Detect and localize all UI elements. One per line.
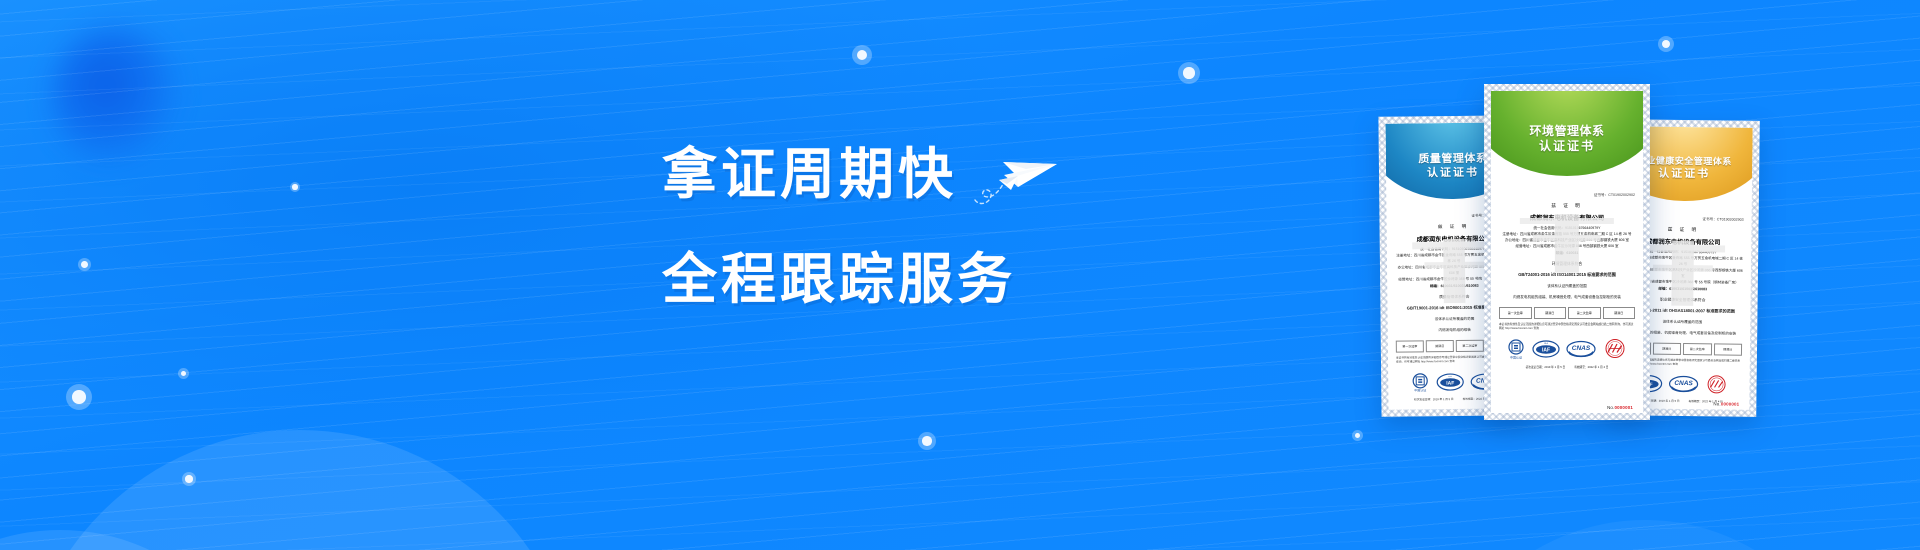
- audit-table: 第一次监审 期满日 第二次监审 期满日: [1499, 307, 1635, 319]
- svg-text:MLA: MLA: [1544, 342, 1548, 345]
- bubble-dot-icon: [66, 384, 92, 410]
- bubble-dot-icon: [78, 258, 91, 271]
- certificate-header: HXC BEIJING HXC BEIJING HXC BEIJING HXC …: [1491, 91, 1643, 188]
- certificate-number-value: CT01902002903: [1717, 217, 1744, 221]
- serial-prefix: No.: [1607, 405, 1614, 410]
- body-watermark: [1640, 241, 1725, 307]
- certificate-title-line1: 环境管理体系: [1491, 124, 1643, 139]
- certificate-number-value: CT01902002902: [1608, 193, 1635, 197]
- certificate-number-label: 证书号：: [1594, 193, 1608, 197]
- headline-line-1: 拿证周期快: [662, 145, 957, 204]
- svg-text:CNAS: CNAS: [1572, 345, 1591, 352]
- certificate-title-line2: 认证证书: [1491, 139, 1643, 154]
- bubble-dot-icon: [1658, 36, 1674, 52]
- table-cell: 期满日: [1534, 307, 1567, 319]
- certificate-serial: No.0000001: [1607, 405, 1633, 410]
- certificate-card-environment[interactable]: HXC BEIJING HXC BEIJING HXC BEIJING HXC …: [1484, 84, 1650, 420]
- body-watermark: [1520, 214, 1614, 272]
- serial-prefix: No.: [1713, 401, 1720, 406]
- tongren-mark-icon: 中国认证: [1506, 338, 1526, 360]
- serial-value: 0000001: [1721, 401, 1740, 406]
- table-cell: 第一次监审: [1499, 307, 1532, 319]
- headline-row-primary: 拿证周期快: [662, 142, 1132, 208]
- bubble-dot-icon: [1178, 62, 1200, 84]
- promo-banner: 拿证周期快 全程跟踪服务: [0, 0, 1920, 550]
- expiry-date: 有效期至：2022 年 1 月 4 日: [1574, 365, 1608, 369]
- scope-detail: 内燃发电机组的组装、机房噪音处理、电气成套设备及控制柜的安装: [1499, 295, 1635, 300]
- bubble-dot-icon: [182, 472, 196, 486]
- table-cell: 期满日: [1603, 307, 1636, 319]
- table-cell: 期满日: [1426, 340, 1454, 352]
- certificate-footer: 初次发证日期：2019 年 1 月 5 日 有效期至：2022 年 1 月 4 …: [1491, 365, 1643, 369]
- table-cell: 第一次监审: [1396, 340, 1424, 352]
- bubble-dot-icon: [852, 45, 872, 65]
- svg-text:IAF: IAF: [1446, 380, 1454, 386]
- paper-plane-icon: [973, 142, 1061, 208]
- svg-text:MLA: MLA: [1448, 375, 1452, 378]
- tongren-mark-icon: 中国认证: [1410, 372, 1430, 392]
- svg-text:CNAS: CNAS: [1674, 380, 1693, 387]
- red-seal-icon: [1704, 375, 1728, 395]
- cnas-logo-icon: CNAS: [1566, 340, 1596, 358]
- headline-block: 拿证周期快 全程跟踪服务: [662, 142, 1132, 309]
- issue-date: 初次发证日期：2019 年 1 月 5 日: [1414, 397, 1454, 401]
- svg-text:IAF: IAF: [1542, 348, 1550, 354]
- svg-text:中国认证: 中国认证: [1510, 355, 1522, 360]
- iaf-logo-icon: IAF MLA: [1436, 372, 1464, 390]
- serial-value: 0000001: [1615, 405, 1634, 410]
- certificate-title: 环境管理体系 认证证书: [1491, 124, 1643, 155]
- svg-text:中国认证: 中国认证: [1414, 387, 1426, 392]
- certificate-serial: No.0000001: [1713, 401, 1739, 406]
- table-cell: 期满日: [1652, 342, 1681, 354]
- certify-label: 兹 证 明: [1499, 203, 1635, 209]
- bubble-dot-icon: [178, 368, 189, 379]
- certificate-stack: HXC BEIJING HXC BEIJING HXC BEIJING HXC …: [1380, 76, 1800, 456]
- headline-line-2: 全程跟踪服务: [662, 250, 1132, 309]
- bubble-dot-icon: [1352, 430, 1363, 441]
- table-cell: 第二次监审: [1683, 343, 1712, 355]
- table-cell: 第二次监审: [1568, 307, 1601, 319]
- cnas-logo-icon: CNAS: [1668, 375, 1698, 393]
- red-seal-icon: [1602, 338, 1628, 360]
- accreditation-logos: 中国认证 IAF MLA CNAS: [1491, 338, 1643, 360]
- fine-print: 本证书的有效性及认证范围的详细信息可通过登录中国合格评定国家认可委员会网站或扫描…: [1499, 323, 1635, 332]
- issue-date: 初次发证日期：2019 年 1 月 5 日: [1526, 365, 1566, 369]
- table-cell: 期满日: [1713, 343, 1742, 355]
- bubble-dot-icon: [918, 432, 936, 450]
- bubble-dot-icon: [290, 182, 300, 192]
- iaf-logo-icon: IAF MLA: [1532, 340, 1560, 358]
- scope-label: 该体系认证所覆盖的范围: [1499, 284, 1635, 289]
- certificate-number-label: 证书号：: [1702, 217, 1716, 221]
- certificate-number: 证书号：CT01902002902: [1499, 193, 1635, 198]
- table-cell: 第二次监审: [1456, 340, 1484, 352]
- certificate-body: 证书号：CT01902002902 兹 证 明 成都润东电机设备有限公司 统一社…: [1491, 188, 1643, 300]
